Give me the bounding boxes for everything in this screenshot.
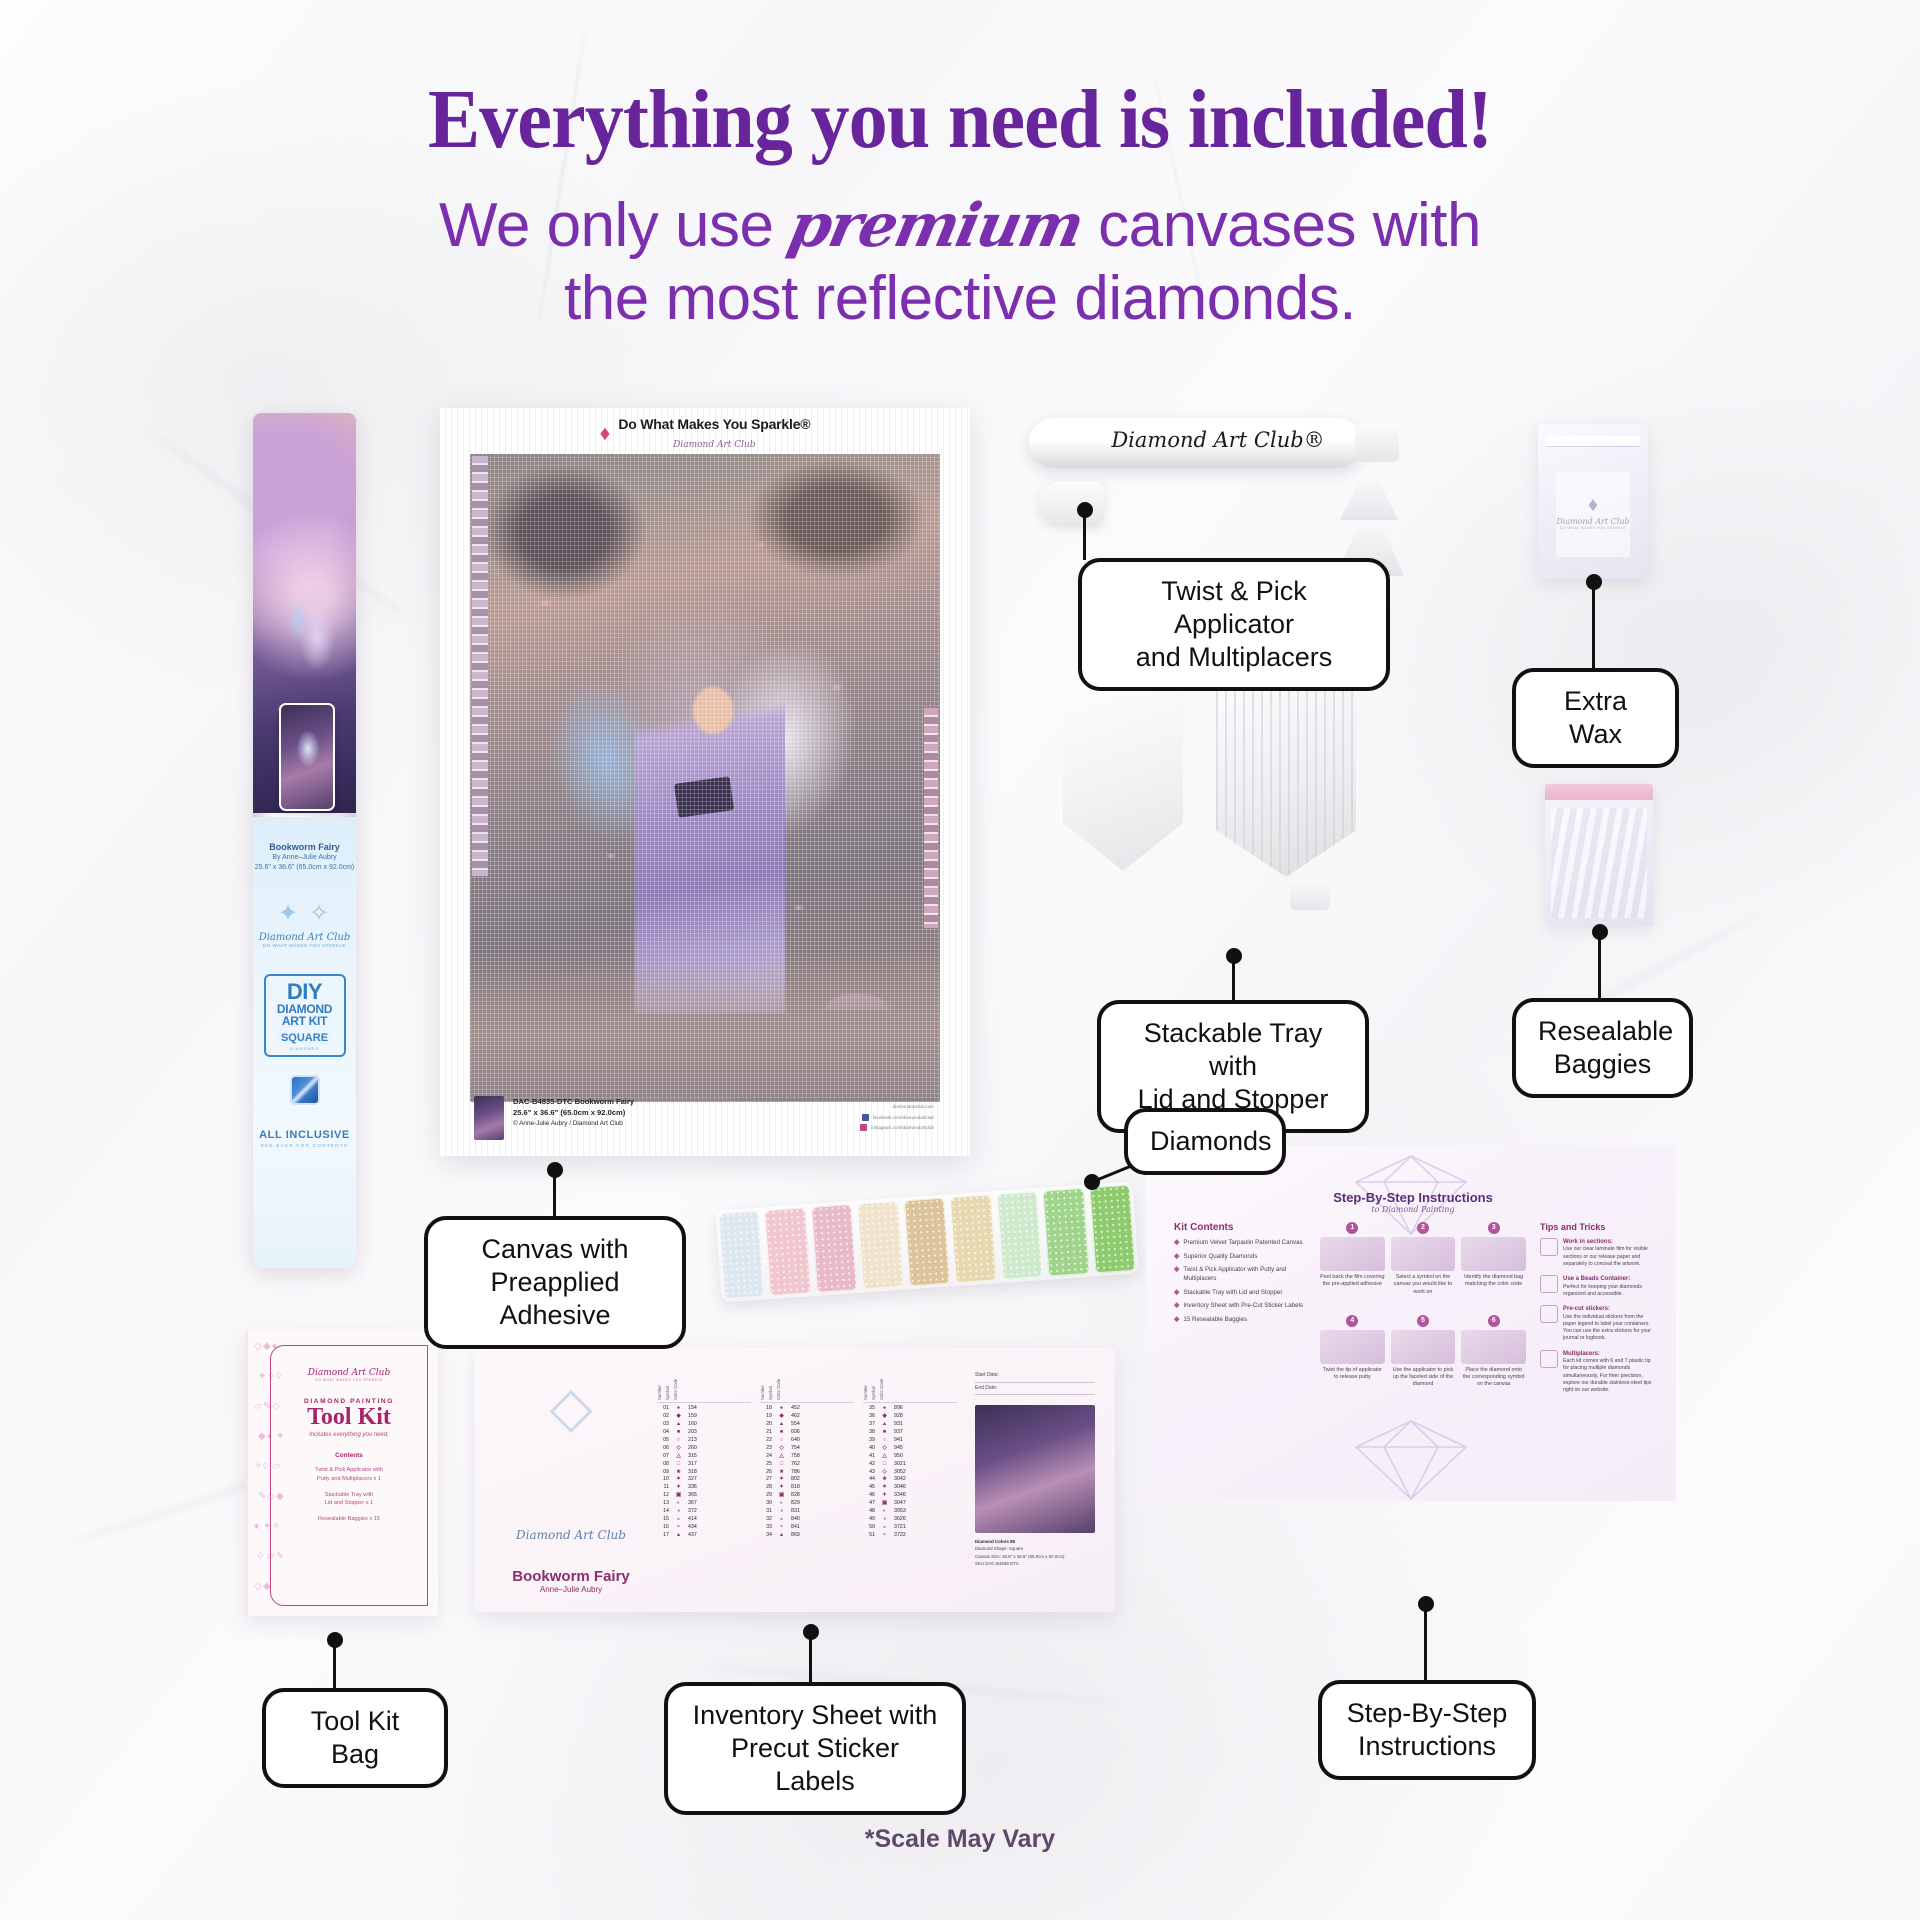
inventory-symbol: ■ [672, 1429, 685, 1437]
tip-icon [1540, 1350, 1558, 1368]
inventory-color-code: 203 [688, 1429, 710, 1437]
inventory-row: 01●154 [657, 1405, 751, 1413]
inventory-row: 50◒3721 [863, 1524, 957, 1532]
inventory-symbol: ● [672, 1405, 685, 1413]
inventory-number: 25 [760, 1461, 772, 1469]
gem-decoration-icon: ♦ [254, 1521, 259, 1532]
gem-decoration-icon: ✧ [254, 1461, 262, 1472]
inventory-number: 16 [657, 1524, 669, 1532]
tip-text: Use the individual stickers from the pap… [1563, 1314, 1651, 1342]
inventory-symbol: ◇ [672, 1445, 685, 1453]
inventory-row: 21■606 [760, 1429, 854, 1437]
inventory-number: 42 [863, 1461, 875, 1469]
inventory-row: 15◒414 [657, 1516, 751, 1524]
gem-decoration-icon: ◊ [258, 1551, 263, 1562]
inventory-number: 10 [657, 1476, 669, 1484]
inventory-symbol: ▴ [672, 1532, 685, 1540]
tip-title: Use a Beads Container: [1563, 1275, 1652, 1283]
tool-kit-tagline: Includes everything you need. [271, 1432, 427, 1438]
inventory-number: 48 [863, 1508, 875, 1516]
inventory-number: 23 [760, 1445, 772, 1453]
inventory-color-code: 786 [791, 1469, 813, 1477]
inventory-column-header: Number [657, 1374, 662, 1400]
inventory-symbol: □ [672, 1461, 685, 1469]
gem-decoration-icon: ◇ [254, 1341, 262, 1352]
diamond-bag [950, 1194, 996, 1283]
gem-decoration-icon: ◆ [258, 1431, 266, 1442]
inventory-row: 27✶802 [760, 1476, 854, 1484]
steps-grid: 1Peel back the film covering the pre-app… [1320, 1222, 1526, 1402]
step-number: 2 [1417, 1222, 1429, 1234]
inventory-color-code: 3052 [894, 1469, 916, 1477]
inventory-symbol: ✶ [878, 1484, 891, 1492]
page-subtitle: We only use premium canvases with the mo… [0, 190, 1920, 335]
tip-icon [1540, 1305, 1558, 1323]
inventory-number: 39 [863, 1437, 875, 1445]
tube-title: Bookworm Fairy [253, 841, 356, 853]
diamond-bag [904, 1198, 950, 1287]
inventory-color-code: 758 [791, 1453, 813, 1461]
applicator-brand-text: Diamond Art Club® [1108, 428, 1328, 452]
callout-resealable-baggies[interactable]: Resealable Baggies [1512, 998, 1693, 1098]
inventory-symbol: ◑ [878, 1516, 891, 1524]
inventory-symbol: ● [775, 1405, 788, 1413]
inventory-symbol: ○ [878, 1437, 891, 1445]
inventory-row: 25□762 [760, 1461, 854, 1469]
step-illustration [1461, 1330, 1526, 1364]
inventory-symbol: ◐ [878, 1508, 891, 1516]
step-illustration [1391, 1237, 1456, 1271]
inventory-row: 14◑372 [657, 1508, 751, 1516]
step-number: 3 [1488, 1222, 1500, 1234]
inventory-artist: Anne–Julie Aubry [497, 1585, 645, 1594]
inventory-sheet: ◇ Diamond Art Club Bookworm Fairy Anne–J… [475, 1348, 1115, 1612]
inventory-row: 06◇260 [657, 1445, 751, 1453]
instruction-step: 4Twist the tip of applicator to release … [1320, 1315, 1385, 1402]
step-illustration [1320, 1330, 1385, 1364]
inventory-row: 36◆928 [863, 1413, 957, 1421]
inventory-number: 40 [863, 1445, 875, 1453]
inventory-row: 08□317 [657, 1461, 751, 1469]
inventory-color-code: 3721 [894, 1524, 916, 1532]
step-text: Use the applicator to pick up the facete… [1391, 1367, 1456, 1389]
inventory-symbol: ◒ [672, 1516, 685, 1524]
inventory-color-code: 3053 [894, 1508, 916, 1516]
tube-artist: By Anne–Julie Aubry [253, 853, 356, 863]
inventory-color-code: 762 [791, 1461, 813, 1469]
tube-label: Bookworm Fairy By Anne–Julie Aubry 25.6"… [253, 817, 356, 1268]
bullet-icon: ◆ [1174, 1239, 1179, 1248]
inventory-symbol: ▲ [775, 1421, 788, 1429]
inventory-number: 22 [760, 1437, 772, 1445]
tool-kit-bag: ◇◆♦✦✧◊▱✎◇◆♦✦✧◊▱✎◇◆♦✦✧◊▱✎◇◆ Diamond Art C… [245, 1331, 438, 1616]
resealable-baggies [1545, 784, 1653, 926]
diamond-bag [719, 1211, 765, 1300]
tube-brand: Diamond Art Club [253, 932, 356, 943]
subtitle-line2: the most reflective diamonds. [564, 264, 1356, 333]
inventory-symbol: ◆ [775, 1413, 788, 1421]
inventory-color-code: 3046 [894, 1484, 916, 1492]
inventory-symbol: ✦ [775, 1484, 788, 1492]
diamond-bag [1043, 1188, 1089, 1277]
inventory-symbol: ◑ [775, 1508, 788, 1516]
tool-kit-brand-sub: DO WHAT MAKES YOU SPARKLE [271, 1378, 427, 1382]
inventory-row: 13◐367 [657, 1500, 751, 1508]
subtitle-after: canvases with [1098, 191, 1481, 260]
inventory-color-code: 754 [791, 1445, 813, 1453]
inventory-number: 43 [863, 1469, 875, 1477]
inventory-color-code: 606 [791, 1429, 813, 1437]
kit-contents-item: ◆Stackable Tray with Lid and Stopper [1174, 1289, 1306, 1298]
leader-line-tool-kit-bag [333, 1640, 336, 1690]
step-illustration [1391, 1330, 1456, 1364]
tip-item: Use a Beads Container:Perfect for keepin… [1540, 1275, 1652, 1298]
inventory-number: 14 [657, 1508, 669, 1516]
inventory-color-code: 213 [688, 1437, 710, 1445]
inventory-brand: Diamond Art Club [497, 1528, 645, 1542]
inventory-row: 23◇754 [760, 1445, 854, 1453]
inventory-side-panel: Start Date: End Date: Diamond Colors 85 … [975, 1370, 1095, 1568]
tube-size: 25.6" x 36.6" (65.0cm x 92.0cm) [253, 863, 356, 873]
inventory-symbol: ◓ [672, 1524, 685, 1532]
inventory-color-code: 931 [894, 1421, 916, 1429]
tool-kit-brand: Diamond Art Club [271, 1368, 427, 1378]
subtitle-before: We only use [439, 191, 774, 260]
bullet-icon: ◆ [1174, 1289, 1179, 1298]
inventory-number: 19 [760, 1413, 772, 1421]
inventory-symbol: △ [672, 1453, 685, 1461]
kit-contents-item: ◆Inventory Sheet with Pre-Cut Sticker La… [1174, 1302, 1306, 1311]
callout-inventory-sheet[interactable]: Inventory Sheet with Precut Sticker Labe… [664, 1682, 966, 1815]
inventory-number: 38 [863, 1429, 875, 1437]
inventory-color-code: 3722 [894, 1532, 916, 1540]
tip-title: Work in sections: [1563, 1238, 1652, 1246]
tube-drill-type: SQUARE [277, 1032, 332, 1044]
inventory-symbol: ○ [672, 1437, 685, 1445]
tube-diy-badge: DIY DIAMOND ART KIT SQUARE DIAMONDS [264, 974, 346, 1057]
inventory-number: 24 [760, 1453, 772, 1461]
inventory-symbol: ◇ [775, 1445, 788, 1453]
inventory-number: 06 [657, 1445, 669, 1453]
canvas-legend-strip-right [924, 708, 938, 928]
inventory-row: 33◓841 [760, 1524, 854, 1532]
canvas-footer-thumbnail [474, 1096, 504, 1140]
step-text: Identify the diamond bag matching the co… [1461, 1274, 1526, 1289]
inventory-number: 35 [863, 1405, 875, 1413]
inventory-symbol: ★ [878, 1476, 891, 1484]
inventory-symbol: ▣ [878, 1500, 891, 1508]
inventory-caption-title: Diamond Colors 85 [975, 1538, 1095, 1545]
inventory-number: 37 [863, 1421, 875, 1429]
tips-heading: Tips and Tricks [1540, 1222, 1652, 1232]
inventory-row: 19◆462 [760, 1413, 854, 1421]
inventory-number: 21 [760, 1429, 772, 1437]
inventory-color-code: 941 [894, 1437, 916, 1445]
canvas-social-instagram: instagram.com/diamondartclub [871, 1124, 934, 1131]
inventory-color-code: 327 [688, 1476, 710, 1484]
tool-kit-item: Resealable Baggies x 15 [271, 1515, 427, 1524]
tip-text: Perfect for keeping your diamonds organi… [1563, 1284, 1642, 1297]
inventory-column-header: Color Code [879, 1374, 884, 1400]
inventory-color-code: 318 [688, 1469, 710, 1477]
inventory-color-code: 869 [791, 1532, 813, 1540]
inventory-column-header: Color Code [776, 1374, 781, 1400]
tip-text: Use our clear laminate film for visible … [1563, 1246, 1648, 1267]
tip-icon [1540, 1238, 1558, 1256]
subtitle-script-word: premium [783, 191, 1089, 261]
inventory-number: 29 [760, 1492, 772, 1500]
inventory-row: 18●452 [760, 1405, 854, 1413]
inventory-title: Bookworm Fairy [497, 1568, 645, 1585]
diamond-bag [1089, 1185, 1135, 1274]
inventory-column-header: Number [863, 1374, 868, 1400]
inventory-row: 44★3042 [863, 1476, 957, 1484]
inventory-column-header: Symbol [768, 1374, 773, 1400]
inventory-row: 34▴869 [760, 1532, 854, 1540]
leader-line-canvas [553, 1170, 556, 1218]
inventory-header-row: NumberSymbolColor Code [760, 1374, 854, 1403]
leader-line-stackable-tray [1232, 956, 1235, 1002]
wax-label: ♦ Diamond Art Club DO WHAT MAKES YOU SPA… [1556, 472, 1630, 557]
diamond-bag [811, 1204, 857, 1293]
instructions-title: Step-By-Step Instructions to Diamond Pai… [1174, 1190, 1652, 1214]
inventory-color-code: 896 [894, 1405, 916, 1413]
inventory-row: 40◇945 [863, 1445, 957, 1453]
inventory-color-code: 831 [791, 1508, 813, 1516]
inventory-caption-size: Canvas Size: 25.6" x 36.6" (65.0cm x 92.… [975, 1553, 1095, 1560]
inventory-number: 46 [863, 1492, 875, 1500]
canvas-artwork [470, 454, 940, 1102]
tube-diy-label: DIY [268, 982, 342, 1003]
inventory-number: 11 [657, 1484, 669, 1492]
inventory-number: 20 [760, 1421, 772, 1429]
inventory-color-code: 3021 [894, 1461, 916, 1469]
inventory-row: 29▣828 [760, 1492, 854, 1500]
inventory-row: 51◓3722 [863, 1532, 957, 1540]
inventory-color-code: 317 [688, 1461, 710, 1469]
callout-instructions[interactable]: Step-By-Step Instructions [1318, 1680, 1536, 1780]
bullet-icon: ◆ [1174, 1253, 1179, 1262]
inventory-row: 16◓434 [657, 1524, 751, 1532]
inventory-row: 43◇3052 [863, 1469, 957, 1477]
inventory-color-code: 554 [791, 1421, 813, 1429]
inventory-number: 47 [863, 1500, 875, 1508]
bullet-icon: ◆ [1174, 1266, 1179, 1283]
canvas-credit: © Anne-Julie Aubry / Diamond Art Club [513, 1119, 634, 1129]
step-number: 1 [1346, 1222, 1358, 1234]
inventory-symbol: ▴ [775, 1532, 788, 1540]
start-date-row: Start Date: [975, 1370, 1095, 1383]
inventory-symbol: ◇ [878, 1445, 891, 1453]
inventory-column: NumberSymbolColor Code01●15402◆15903▲160… [657, 1374, 751, 1540]
inventory-symbol: ◒ [878, 1524, 891, 1532]
tube-all-inclusive-sub: SEE BACK FOR CONTENTS [253, 1143, 356, 1148]
inventory-color-code: 640 [791, 1437, 813, 1445]
inventory-color-code: 365 [688, 1492, 710, 1500]
kit-contents-item: ◆Premium Velvet Tarpaulin Patented Canva… [1174, 1239, 1306, 1248]
canvas-social-links: facebook.com/diamondartclub [733, 1114, 934, 1121]
inventory-thumbnail [975, 1405, 1095, 1533]
inventory-color-code: 3626 [894, 1516, 916, 1524]
leader-line-resealable-baggies [1598, 932, 1601, 1000]
inventory-color-code: 950 [894, 1453, 916, 1461]
inventory-color-code: 437 [688, 1532, 710, 1540]
tray-stopper [1290, 880, 1330, 910]
inventory-row: 49◑3626 [863, 1516, 957, 1524]
inventory-row: 17▴437 [657, 1532, 751, 1540]
gem-icon: ♦ [600, 422, 611, 446]
tube-thumbnail [279, 703, 335, 811]
inventory-row: 31◑831 [760, 1508, 854, 1516]
inventory-header-row: NumberSymbolColor Code [863, 1374, 957, 1403]
inventory-row: 38■937 [863, 1429, 957, 1437]
inventory-row: 41△950 [863, 1453, 957, 1461]
inventory-symbol: ◓ [878, 1532, 891, 1540]
inventory-color-code: 462 [791, 1413, 813, 1421]
inventory-row: 35●896 [863, 1405, 957, 1413]
inventory-caption-shape: Diamond Shape: Square [975, 1545, 1095, 1552]
canvas-brand: Diamond Art Club [673, 440, 755, 450]
step-illustration [1461, 1237, 1526, 1271]
applicator-end-cap [1355, 424, 1399, 462]
tube-brand-sub: DO WHAT MAKES YOU SPARKLE [253, 943, 356, 948]
inventory-number: 45 [863, 1484, 875, 1492]
callout-applicator[interactable]: Twist & Pick Applicator and Multiplacers [1078, 558, 1390, 691]
inventory-symbol: ◑ [672, 1508, 685, 1516]
diamond-icon: ◇ [497, 1382, 645, 1432]
inventory-number: 12 [657, 1492, 669, 1500]
inventory-column: NumberSymbolColor Code35●89636◆92837▲931… [863, 1374, 957, 1540]
wax-brand: Diamond Art Club [1556, 517, 1630, 526]
inventory-color-code: 3047 [894, 1500, 916, 1508]
canvas-social-links-2: instagram.com/diamondartclub [733, 1124, 934, 1131]
wax-brand-sub: DO WHAT MAKES YOU SPARKLE [1556, 526, 1630, 530]
inventory-symbol: ★ [775, 1469, 788, 1477]
inventory-column-header: Number [760, 1374, 765, 1400]
inventory-symbol: ■ [775, 1429, 788, 1437]
inventory-symbol: ▲ [878, 1421, 891, 1429]
step-by-step-instructions-sheet: Step-By-Step Instructions to Diamond Pai… [1146, 1146, 1676, 1501]
inventory-color-code: 315 [688, 1453, 710, 1461]
inventory-number: 05 [657, 1437, 669, 1445]
tube-artkit-label: ART KIT [268, 1015, 342, 1028]
inventory-number: 04 [657, 1429, 669, 1437]
callout-diamonds[interactable]: Diamonds [1124, 1108, 1286, 1175]
inventory-symbol: ▣ [672, 1492, 685, 1500]
inventory-row: 42□3021 [863, 1461, 957, 1469]
inventory-number: 49 [863, 1516, 875, 1524]
step-text: Select a symbol on the canvas you would … [1391, 1274, 1456, 1296]
inventory-number: 28 [760, 1484, 772, 1492]
kit-contents-column: Kit Contents ◆Premium Velvet Tarpaulin P… [1174, 1222, 1306, 1402]
callout-extra-wax[interactable]: Extra Wax [1512, 668, 1679, 768]
canvas-size: 25.6" x 36.6" (65.0cm x 92.0cm) [513, 1107, 634, 1118]
inventory-symbol: □ [775, 1461, 788, 1469]
kit-contents-heading: Kit Contents [1174, 1222, 1306, 1233]
diamond-bag [765, 1207, 811, 1296]
step-number: 5 [1417, 1315, 1429, 1327]
canvas-url: diamondartclub.com [733, 1103, 934, 1110]
inventory-row: 26★786 [760, 1469, 854, 1477]
inventory-row: 30◐829 [760, 1500, 854, 1508]
tip-item: Work in sections:Use our clear laminate … [1540, 1238, 1652, 1268]
inventory-row: 47▣3047 [863, 1500, 957, 1508]
inventory-color-code: 260 [688, 1445, 710, 1453]
poster-tube: Bookworm Fairy By Anne–Julie Aubry 25.6"… [253, 413, 356, 1268]
inventory-number: 33 [760, 1524, 772, 1532]
inventory-number: 26 [760, 1469, 772, 1477]
instructions-subtitle: to Diamond Painting [1174, 1205, 1652, 1214]
inventory-table: NumberSymbolColor Code01●15402◆15903▲160… [657, 1374, 957, 1540]
inventory-color-code: 818 [791, 1484, 813, 1492]
gem-decoration-icon: ▱ [254, 1401, 262, 1412]
kit-contents-item: ◆Superior Quality Diamonds [1174, 1253, 1306, 1262]
inventory-number: 17 [657, 1532, 669, 1540]
inventory-column-header: Symbol [665, 1374, 670, 1400]
gem-icon: ♦ [1556, 494, 1630, 517]
inventory-symbol: ✶ [775, 1476, 788, 1484]
inventory-symbol: ✦ [672, 1484, 685, 1492]
tool-kit-item: Stackable Tray with Lid and Stopper x 1 [271, 1491, 427, 1508]
inventory-number: 15 [657, 1516, 669, 1524]
inventory-color-code: 841 [791, 1524, 813, 1532]
multiplacer-small [1340, 474, 1398, 520]
tube-all-inclusive: ALL INCLUSIVE [253, 1129, 356, 1141]
inventory-number: 13 [657, 1500, 669, 1508]
inventory-row: 37▲931 [863, 1421, 957, 1429]
gem-decoration-icon: ◇ [254, 1581, 262, 1592]
inventory-symbol: ▣ [775, 1492, 788, 1500]
inventory-symbol: ○ [775, 1437, 788, 1445]
inventory-number: 31 [760, 1508, 772, 1516]
callout-canvas[interactable]: Canvas with Preapplied Adhesive [424, 1216, 686, 1349]
stackable-tray [1216, 682, 1356, 877]
tip-item: Pre-cut stickers:Use the individual stic… [1540, 1305, 1652, 1343]
diamond-bag [996, 1191, 1042, 1280]
inventory-symbol: ★ [672, 1469, 685, 1477]
inventory-color-code: 160 [688, 1421, 710, 1429]
inventory-row: 24△758 [760, 1453, 854, 1461]
tube-drill-sub: DIAMONDS [268, 1046, 342, 1051]
canvas-legal: NONE OF THIS MATERIAL MAY BE REPRODUCED … [733, 1096, 934, 1103]
bullet-icon: ◆ [1174, 1302, 1179, 1311]
gem-decoration-icon: ◊ [263, 1461, 268, 1472]
inventory-row: 10✶327 [657, 1476, 751, 1484]
inventory-number: 18 [760, 1405, 772, 1413]
diamond-painting-canvas: ♦ Do What Makes You Sparkle® Diamond Art… [440, 408, 970, 1156]
callout-tool-kit-bag[interactable]: Tool Kit Bag [262, 1688, 448, 1788]
step-number: 4 [1346, 1315, 1358, 1327]
inventory-color-code: 154 [688, 1405, 710, 1413]
inventory-column-header: Color Code [673, 1374, 678, 1400]
inventory-row: 09★318 [657, 1469, 751, 1477]
leader-line-extra-wax [1592, 582, 1595, 670]
inventory-symbol: ✦ [878, 1492, 891, 1500]
inventory-row: 46✦3346 [863, 1492, 957, 1500]
instruction-step: 3Identify the diamond bag matching the c… [1461, 1222, 1526, 1309]
drill-grid-overlay [470, 454, 940, 1102]
step-illustration [1320, 1237, 1385, 1271]
inventory-symbol: ◐ [775, 1500, 788, 1508]
tool-kit-contents-heading: Contents [271, 1452, 427, 1459]
instruction-step: 6Place the diamond onto the correspondin… [1461, 1315, 1526, 1402]
inventory-symbol: ■ [878, 1429, 891, 1437]
tip-item: Multiplacers:Each kit comes with 6 and 7… [1540, 1350, 1652, 1395]
canvas-footer: DAC-B4835-DTC Bookworm Fairy 25.6" x 36.… [474, 1096, 934, 1140]
canvas-social-facebook: facebook.com/diamondartclub [873, 1114, 934, 1121]
step-text: Peel back the film covering the pre-appl… [1320, 1274, 1385, 1289]
inventory-color-code: 945 [894, 1445, 916, 1453]
